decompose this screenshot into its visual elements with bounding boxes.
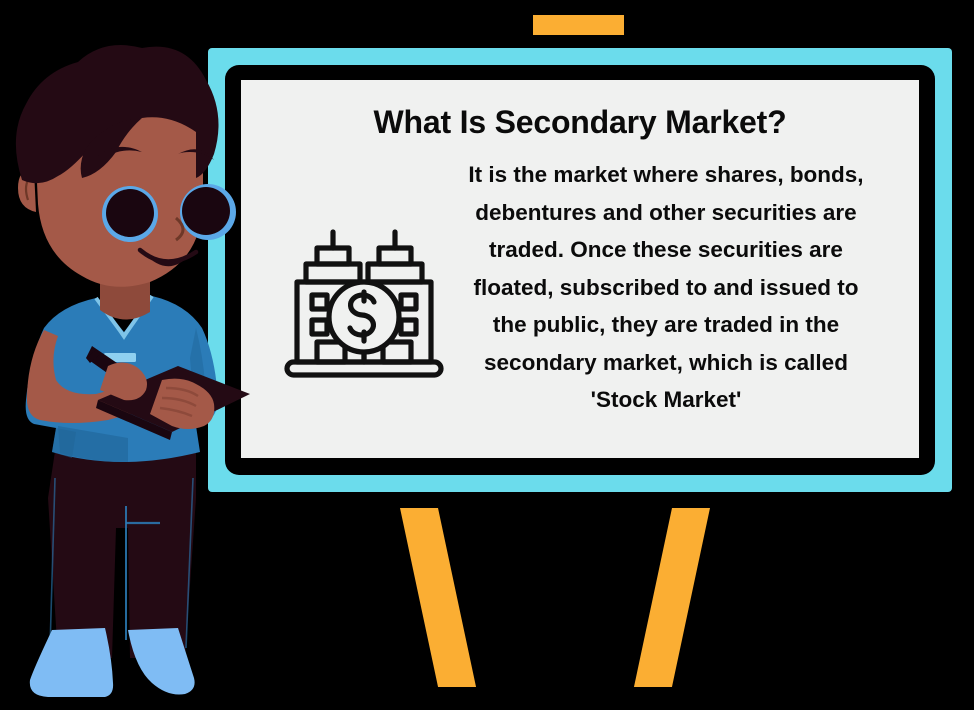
whiteboard-frame: What Is Secondary Market? It is the mark… xyxy=(208,48,952,492)
body-line: 'Stock Market' xyxy=(421,381,911,419)
boy-with-clipboard-illustration xyxy=(0,28,265,705)
page-title: What Is Secondary Market? xyxy=(241,104,919,141)
shoe-left xyxy=(30,628,113,697)
body-line: traded. Once these securities are xyxy=(421,231,911,269)
body-line: the public, they are traded in the xyxy=(421,306,911,344)
poster-scene: What Is Secondary Market? It is the mark… xyxy=(0,0,974,705)
whiteboard-surface: What Is Secondary Market? It is the mark… xyxy=(241,80,919,458)
body-line: secondary market, which is called xyxy=(421,344,911,382)
easel-top-tab xyxy=(533,15,624,35)
pants xyxy=(48,438,196,658)
whiteboard-content: What Is Secondary Market? It is the mark… xyxy=(241,80,919,458)
body-line: It is the market where shares, bonds, xyxy=(421,156,911,194)
board-body-text: It is the market where shares, bonds, de… xyxy=(421,156,911,419)
whiteboard-border: What Is Secondary Market? It is the mark… xyxy=(225,65,935,475)
body-line: floated, subscribed to and issued to xyxy=(421,269,911,307)
easel-leg-right xyxy=(634,508,710,687)
easel-leg-left xyxy=(400,508,476,687)
body-line: debentures and other securities are xyxy=(421,194,911,232)
